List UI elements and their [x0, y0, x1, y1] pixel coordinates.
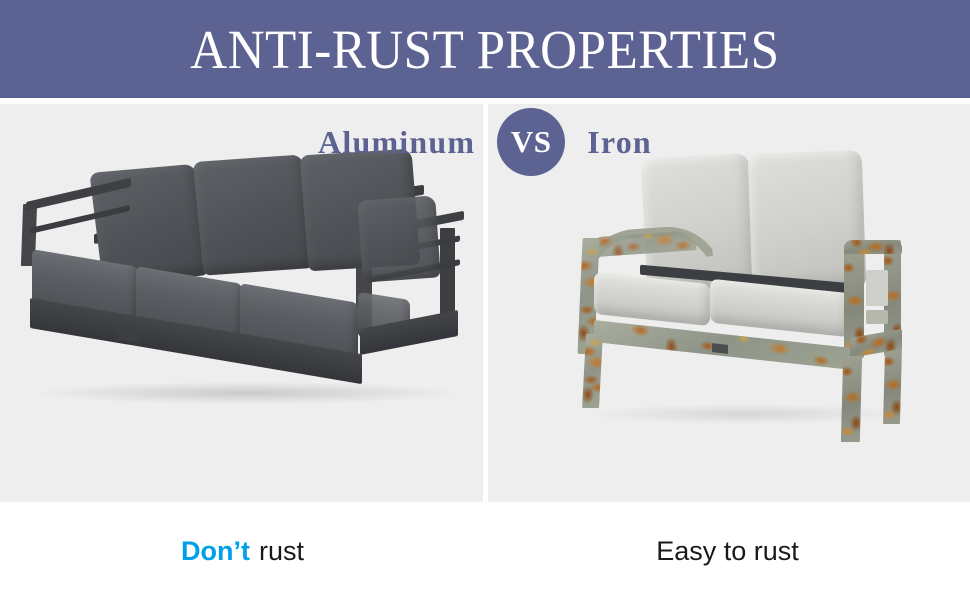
- aluminum-back-cushion-4: [357, 195, 441, 282]
- iron-sofa-image: [580, 152, 920, 462]
- iron-arm-right-cap: [844, 240, 902, 254]
- page-title: ANTI-RUST PROPERTIES: [190, 22, 779, 77]
- panel-divider: [483, 104, 488, 502]
- caption-right: Easy to rust: [485, 502, 970, 600]
- aluminum-sofa-image: [8, 146, 478, 466]
- aluminum-sofa-shadow: [38, 382, 458, 404]
- caption-left-rest: rust: [259, 536, 304, 567]
- iron-leg-back-right: [883, 348, 902, 424]
- caption-right-text: Easy to rust: [656, 536, 799, 567]
- versus-badge: VS: [497, 108, 565, 176]
- anti-rust-comparison-infographic: ANTI-RUST PROPERTIES: [0, 0, 970, 600]
- aluminum-leg-front-right: [341, 354, 360, 442]
- iron-center-support: [712, 343, 728, 354]
- caption-bar: Don’t rust Easy to rust: [0, 502, 970, 600]
- caption-left-highlight: Don’t: [181, 536, 250, 567]
- material-label-iron: Iron: [587, 124, 652, 161]
- right-product-panel: [488, 104, 970, 502]
- material-label-aluminum: Aluminum: [318, 124, 475, 161]
- iron-leg-front-right: [841, 356, 862, 442]
- iron-leg-front-left: [582, 334, 603, 408]
- header-banner: ANTI-RUST PROPERTIES: [0, 0, 970, 98]
- left-product-panel: [0, 104, 483, 502]
- iron-arm-right-slot-lower: [866, 310, 888, 324]
- aluminum-back-cushion-2: [193, 154, 314, 275]
- caption-left: Don’t rust: [0, 502, 485, 600]
- aluminum-leg-back-right: [437, 336, 454, 414]
- iron-arm-right-slot-upper: [866, 270, 888, 306]
